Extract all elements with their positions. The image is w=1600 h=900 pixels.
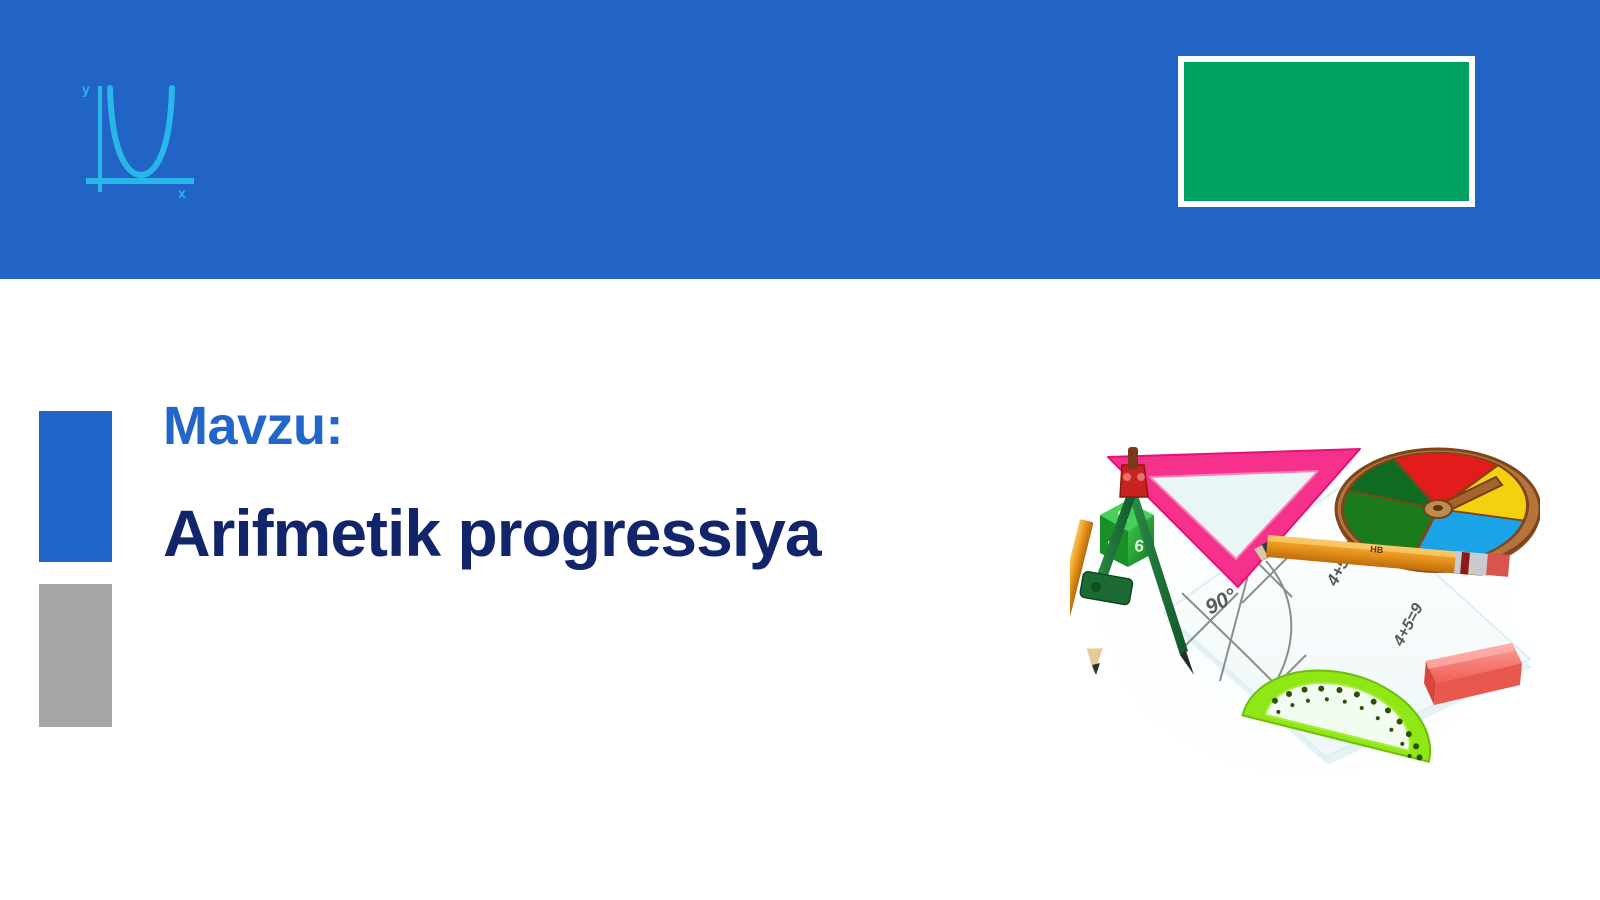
green-board [1178,56,1475,207]
svg-text:y: y [82,81,90,97]
svg-text:x: x [178,185,186,200]
parabola-graph-icon: y x [82,80,212,200]
math-tools-illustration: 90° 4+5=9 4+5=9 2 5 6 [1070,415,1540,800]
header-banner: y x [0,0,1600,279]
accent-bar-gray [39,584,112,727]
accent-bar-blue [39,411,112,562]
page-title: Arifmetik progressiya [163,499,1023,568]
subject-label: Mavzu: [163,398,1023,455]
svg-text:HB: HB [1370,544,1384,555]
title-block: Mavzu: Arifmetik progressiya [163,398,1023,568]
